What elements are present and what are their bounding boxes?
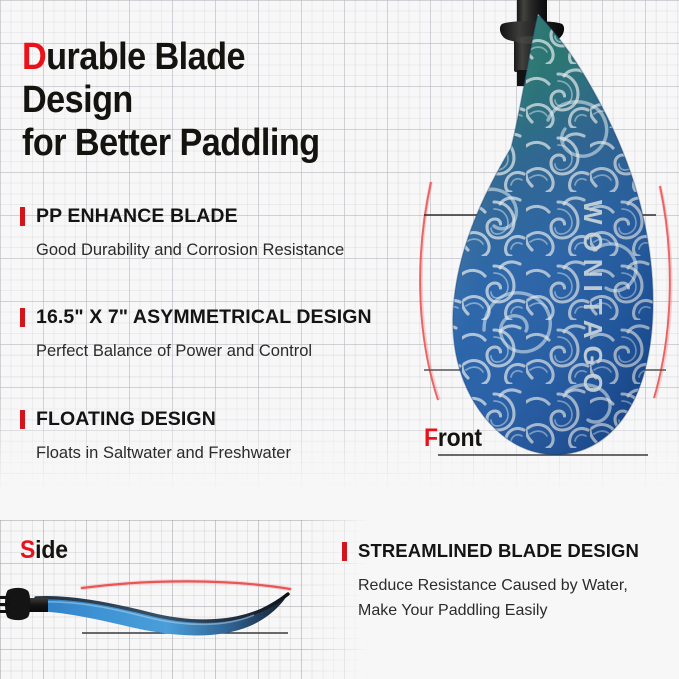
paddle-blade-front [438, 0, 668, 470]
blade-brand-text: WONITAGO [578, 200, 608, 400]
side-paddle-shaft [0, 588, 48, 620]
page-title-rest: urable Blade Design for Better Paddling [22, 36, 320, 164]
side-label-initial: S [20, 536, 35, 564]
feature-title: PP ENHANCE BLADE [36, 205, 238, 228]
feature-block-streamlined-blade-design: STREAMLINED BLADE DESIGN Reduce Resistan… [342, 540, 672, 624]
feature-description: Floats in Saltwater and Freshwater [36, 442, 420, 465]
feature-block-floating-design: FLOATING DESIGN Floats in Saltwater and … [20, 408, 420, 465]
feature-title-row: FLOATING DESIGN [20, 408, 420, 431]
feature-block-asymmetrical-design: 16.5" X 7" ASYMMETRICAL DESIGN Perfect B… [20, 306, 420, 363]
feature-title-row: PP ENHANCE BLADE [20, 205, 420, 228]
red-bar-marker-icon [20, 207, 25, 226]
feature-description: Good Durability and Corrosion Resistance [36, 239, 420, 262]
guide-arc-right-glow [655, 186, 671, 398]
infographic-page: Durable Blade Design for Better Paddling… [0, 0, 679, 679]
front-view-label: Front [424, 424, 482, 453]
feature-description: Perfect Balance of Power and Control [36, 340, 420, 363]
feature-title: FLOATING DESIGN [36, 408, 216, 431]
feature-title: STREAMLINED BLADE DESIGN [358, 540, 639, 562]
page-title: Durable Blade Design for Better Paddling [22, 36, 364, 165]
side-view-label: Side [20, 536, 68, 565]
side-label-rest: ide [35, 536, 68, 564]
page-title-initial: D [22, 36, 46, 78]
red-bar-marker-icon [20, 308, 25, 327]
front-label-initial: F [424, 424, 438, 452]
paddle-blade-side [36, 594, 288, 635]
feature-block-pp-enhance-blade: PP ENHANCE BLADE Good Durability and Cor… [20, 205, 420, 262]
side-guide-curve-red-glow [82, 581, 290, 589]
feature-title-row: 16.5" X 7" ASYMMETRICAL DESIGN [20, 306, 420, 329]
red-bar-marker-icon [20, 410, 25, 429]
feature-title: 16.5" X 7" ASYMMETRICAL DESIGN [36, 306, 372, 329]
feature-description: Reduce Resistance Caused by Water, Make … [358, 574, 672, 624]
paddle-front-view-illustration: WONITAGO [398, 0, 679, 470]
feature-title-row: STREAMLINED BLADE DESIGN [342, 540, 672, 562]
front-label-rest: ront [438, 424, 482, 452]
